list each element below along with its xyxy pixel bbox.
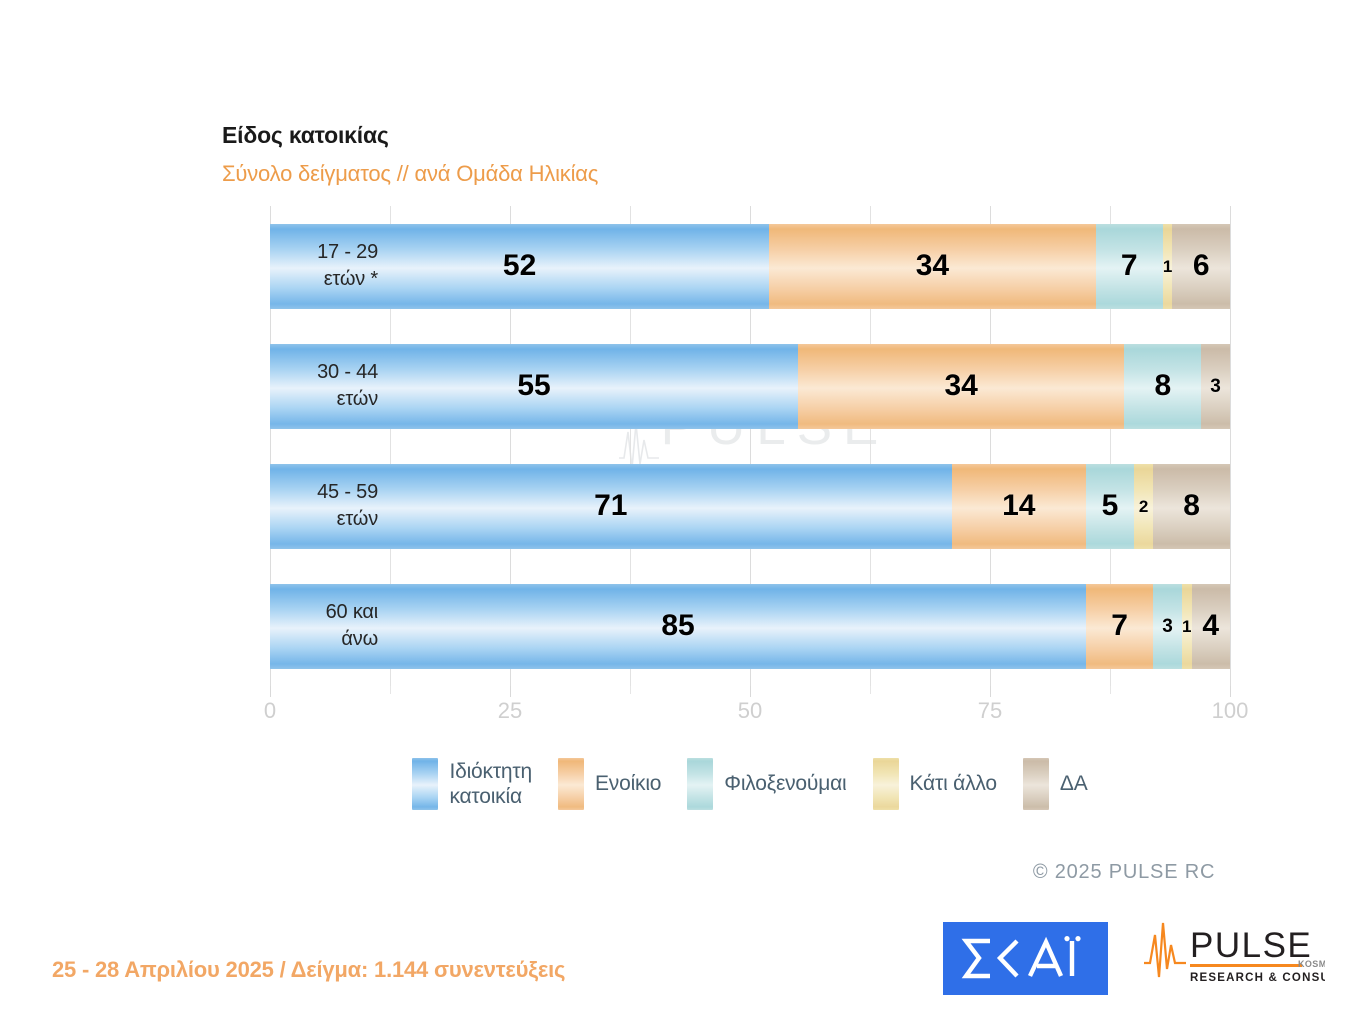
bar-segment[interactable]: 7 [1086,584,1153,669]
legend-swatch [1023,758,1049,810]
legend-swatch [558,758,584,810]
bar-value-label: 2 [1139,498,1148,515]
bar-segment[interactable]: 14 [952,464,1086,549]
skai-logo-mark [960,936,1092,982]
x-axis-tick [1110,686,1111,694]
y-axis-tick-label: 17 - 29ετών * [158,239,378,292]
bar-value-label: 1 [1182,618,1191,635]
bar-row: 5234716 [270,224,1230,309]
bar-rows: 52347165534837114528857314 [270,206,1230,686]
pulse-logo: PULSE KOSMON RESEARCH & CONSULTING [1140,919,1325,997]
bar-value-label: 14 [1002,491,1035,521]
bar-value-label: 8 [1183,491,1200,521]
legend-swatch [687,758,713,810]
bar-segment[interactable]: 4 [1192,584,1230,669]
bar-segment[interactable]: 6 [1172,224,1230,309]
plot-area: 52347165534837114528857314 [270,206,1230,686]
x-axis-tick [390,686,391,694]
x-axis-tick [870,686,871,694]
legend-label: Ενοίκιο [595,771,661,796]
chart-title: Είδος κατοικίας [222,122,389,149]
x-axis-tick [1230,686,1231,697]
bar-value-label: 1 [1163,258,1172,275]
x-axis-tick [270,686,271,697]
x-axis-tick [630,686,631,694]
bar-value-label: 5 [1102,491,1119,521]
gridline [1230,206,1231,686]
bar-segment[interactable]: 8 [1153,464,1230,549]
x-axis-tick [510,686,511,697]
legend-item[interactable]: Ιδιόκτητη κατοικία [412,758,532,810]
bar-value-label: 3 [1210,377,1221,396]
bar-segment[interactable]: 1 [1182,584,1192,669]
bar-value-label: 71 [594,491,627,521]
legend-label: Ιδιόκτητη κατοικία [449,759,532,809]
x-axis-tick-label: 25 [498,698,522,724]
bar-value-label: 34 [916,251,949,281]
bar-segment[interactable]: 34 [798,344,1124,429]
legend-item[interactable]: Ενοίκιο [558,758,661,810]
x-axis-tick-label: 50 [738,698,762,724]
bar-row: 553483 [270,344,1230,429]
bar-segment[interactable]: 34 [769,224,1095,309]
fieldwork-note: 25 - 28 Απριλίου 2025 / Δείγμα: 1.144 συ… [52,957,565,983]
bar-value-label: 85 [661,611,694,641]
bar-value-label: 8 [1154,371,1171,401]
svg-text:RESEARCH & CONSULTING: RESEARCH & CONSULTING [1190,972,1325,984]
legend-label: Κάτι άλλο [910,771,997,796]
bar-segment[interactable]: 3 [1153,584,1182,669]
chart-canvas: Είδος κατοικίας Σύνολο δείγματος // ανά … [0,0,1360,1020]
x-axis-tick-label: 75 [978,698,1002,724]
y-axis-tick-label: 30 - 44ετών [158,359,378,412]
bar-value-label: 7 [1111,611,1128,641]
pulse-logo-mark: PULSE KOSMON RESEARCH & CONSULTING [1140,919,1325,997]
legend-item[interactable]: ΔΑ [1023,758,1088,810]
legend-item[interactable]: Κάτι άλλο [873,758,997,810]
bar-segment[interactable]: 8 [1124,344,1201,429]
bar-segment[interactable]: 3 [1201,344,1230,429]
bar-row: 7114528 [270,464,1230,549]
x-axis-tick-label: 100 [1212,698,1249,724]
x-axis-tick-label: 0 [264,698,276,724]
legend-item[interactable]: Φιλοξενούμαι [687,758,846,810]
bar-segment[interactable]: 85 [270,584,1086,669]
bar-segment[interactable]: 5 [1086,464,1134,549]
legend-label: Φιλοξενούμαι [724,771,846,796]
bar-value-label: 4 [1202,611,1219,641]
chart-legend: Ιδιόκτητη κατοικίαΕνοίκιοΦιλοξενούμαιΚάτ… [270,758,1230,810]
bar-segment[interactable]: 2 [1134,464,1153,549]
svg-text:PULSE: PULSE [1190,926,1312,965]
bar-value-label: 52 [503,251,536,281]
y-axis-tick-label: 60 καιάνω [158,599,378,652]
bar-segment[interactable]: 7 [1096,224,1163,309]
legend-swatch [873,758,899,810]
skai-logo [943,922,1108,995]
x-axis-tick [750,686,751,697]
bar-value-label: 34 [945,371,978,401]
bar-row: 857314 [270,584,1230,669]
x-axis-tick [990,686,991,697]
copyright-text: © 2025 PULSE RC [1033,861,1215,884]
bar-segment[interactable]: 1 [1163,224,1173,309]
bar-value-label: 3 [1162,617,1173,636]
svg-text:KOSMON: KOSMON [1298,959,1325,969]
x-axis: 0255075100 [270,686,1230,732]
legend-label: ΔΑ [1060,771,1088,796]
legend-swatch [412,758,438,810]
bar-value-label: 6 [1193,251,1210,281]
chart-subtitle: Σύνολο δείγματος // ανά Ομάδα Ηλικίας [222,161,598,187]
bar-value-label: 7 [1121,251,1138,281]
bar-value-label: 55 [517,371,550,401]
y-axis-tick-label: 45 - 59ετών [158,479,378,532]
